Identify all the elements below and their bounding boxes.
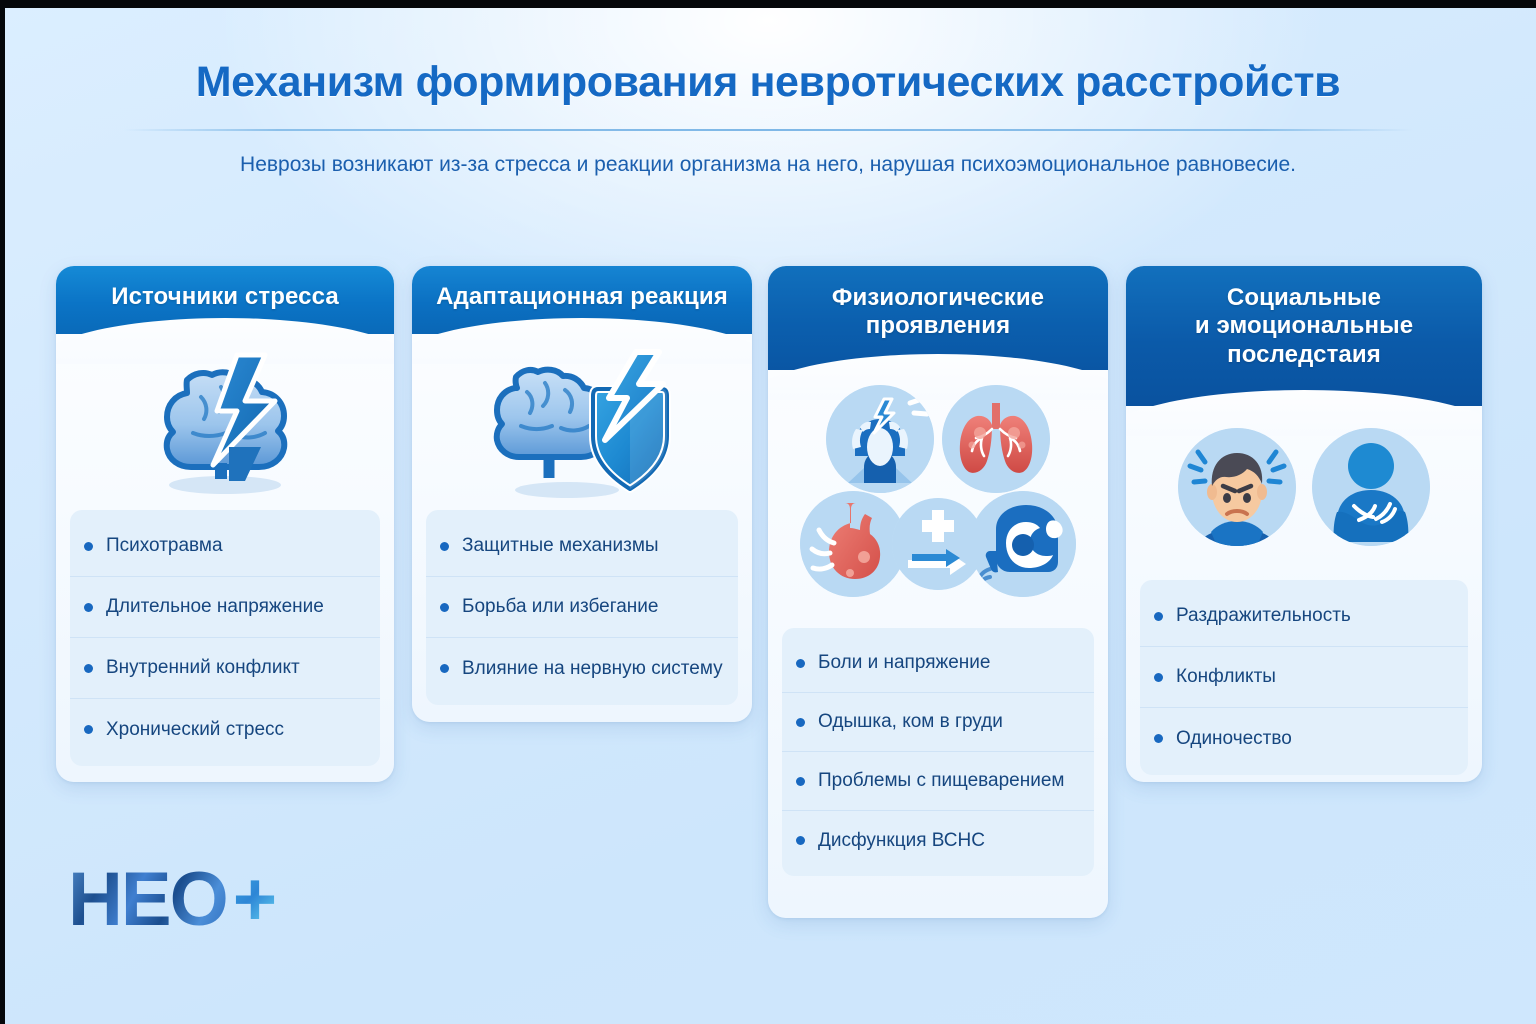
list-item[interactable]: Хронический стресс bbox=[70, 699, 380, 760]
card-title-line-1: Социальные bbox=[1126, 284, 1482, 312]
title-divider bbox=[123, 129, 1413, 131]
list-item[interactable]: Боли и напряжение bbox=[782, 634, 1094, 693]
list-item-label: Защитные механизмы bbox=[462, 535, 659, 557]
list-item-label: Борьба или избегание bbox=[462, 596, 659, 618]
list-item[interactable]: Одиночество bbox=[1140, 708, 1468, 769]
bullet-icon bbox=[1154, 673, 1163, 682]
list-item[interactable]: Защитные механизмы bbox=[426, 516, 738, 577]
bullet-icon bbox=[84, 725, 93, 734]
header: Механизм формирования невротических расс… bbox=[0, 58, 1536, 177]
list-item[interactable]: Внутренний конфликт bbox=[70, 638, 380, 699]
list-item-label: Одиночество bbox=[1176, 728, 1292, 750]
list-item[interactable]: Длительное напряжение bbox=[70, 577, 380, 638]
list-item[interactable]: Психотравма bbox=[70, 516, 380, 577]
list-item[interactable]: Проблемы с пищеварением bbox=[782, 752, 1094, 811]
brain-shield-lightning-icon bbox=[467, 344, 697, 509]
list-item-label: Дисфункция ВСНС bbox=[818, 830, 985, 852]
card-list: Психотравма Длительное напряжение Внутре… bbox=[70, 510, 380, 766]
logo-plus-icon: + bbox=[233, 862, 277, 938]
card-illustration bbox=[768, 372, 1108, 610]
list-item-label: Психотравма bbox=[106, 535, 223, 557]
arrows-transfer-icon bbox=[892, 498, 984, 590]
list-item-label: Влияние на нервную систему bbox=[462, 658, 723, 680]
bullet-icon bbox=[796, 659, 805, 668]
card-social-emotional-consequences: Социальные и эмоциональные последстаия bbox=[1126, 266, 1482, 782]
list-item-label: Проблемы с пищеварением bbox=[818, 770, 1064, 792]
card-illustration bbox=[1126, 412, 1482, 562]
bullet-icon bbox=[84, 542, 93, 551]
card-header: Физиологические проявления bbox=[768, 266, 1108, 370]
card-title: Источники стресса bbox=[111, 283, 339, 310]
card-list: Боли и напряжение Одышка, ком в груди Пр… bbox=[782, 628, 1094, 876]
head-eye-icon bbox=[970, 491, 1076, 597]
list-item-label: Раздражительность bbox=[1176, 605, 1351, 627]
logo-wordmark: НЕО bbox=[68, 862, 227, 938]
card-sources-of-stress: Источники стресса bbox=[56, 266, 394, 782]
bullet-icon bbox=[84, 664, 93, 673]
list-item-label: Конфликты bbox=[1176, 666, 1276, 688]
list-item-label: Длительное напряжение bbox=[106, 596, 324, 618]
list-item[interactable]: Одышка, ком в груди bbox=[782, 693, 1094, 752]
card-header: Источники стресса bbox=[56, 266, 394, 334]
bullet-icon bbox=[1154, 612, 1163, 621]
list-item-label: Хронический стресс bbox=[106, 719, 284, 741]
card-title-line-2: и эмоциональные bbox=[1126, 312, 1482, 340]
angry-face-icon bbox=[1178, 428, 1296, 546]
page-subtitle: Неврозы возникают из-за стресса и реакци… bbox=[0, 153, 1536, 177]
card-header: Адаптационная реакция bbox=[412, 266, 752, 334]
stomach-icon bbox=[800, 491, 906, 597]
card-title-line-1: Физиологические bbox=[768, 284, 1108, 312]
card-physiological-manifestations: Физиологические проявления bbox=[768, 266, 1108, 918]
bullet-icon bbox=[440, 603, 449, 612]
card-title: Адаптационная реакция bbox=[436, 283, 728, 310]
card-illustration bbox=[56, 340, 394, 510]
card-header: Социальные и эмоциональные последстаия bbox=[1126, 266, 1482, 406]
lonely-person-icon bbox=[1312, 428, 1430, 546]
bullet-icon bbox=[84, 603, 93, 612]
list-item-label: Одышка, ком в груди bbox=[818, 711, 1003, 733]
list-item[interactable]: Дисфункция ВСНС bbox=[782, 811, 1094, 870]
infographic-canvas: Механизм формирования невротических расс… bbox=[0, 0, 1536, 1024]
frame-edge-top bbox=[0, 0, 1536, 8]
brand-logo: НЕО + bbox=[68, 862, 277, 938]
list-item[interactable]: Борьба или избегание bbox=[426, 577, 738, 638]
list-item-label: Боли и напряжение bbox=[818, 652, 990, 674]
card-illustration bbox=[412, 338, 752, 514]
bullet-icon bbox=[796, 777, 805, 786]
bullet-icon bbox=[796, 836, 805, 845]
card-title-line-3: последстаия bbox=[1126, 341, 1482, 369]
list-item-label: Внутренний конфликт bbox=[106, 657, 300, 679]
page-title: Механизм формирования невротических расс… bbox=[0, 58, 1536, 107]
bullet-icon bbox=[796, 718, 805, 727]
headache-person-icon bbox=[826, 385, 934, 493]
bullet-icon bbox=[440, 664, 449, 673]
list-item[interactable]: Влияние на нервную систему bbox=[426, 638, 738, 699]
brain-lightning-icon bbox=[125, 345, 325, 505]
card-title-line-2: проявления bbox=[768, 312, 1108, 340]
bullet-icon bbox=[1154, 734, 1163, 743]
list-item[interactable]: Конфликты bbox=[1140, 647, 1468, 708]
lungs-icon bbox=[942, 385, 1050, 493]
card-list: Раздражительность Конфликты Одиночество bbox=[1140, 580, 1468, 775]
bullet-icon bbox=[440, 542, 449, 551]
card-adaptive-reaction: Адаптационная реакция bbox=[412, 266, 752, 722]
card-list: Защитные механизмы Борьба или избегание … bbox=[426, 510, 738, 705]
frame-edge-left bbox=[0, 0, 5, 1024]
list-item[interactable]: Раздражительность bbox=[1140, 586, 1468, 647]
